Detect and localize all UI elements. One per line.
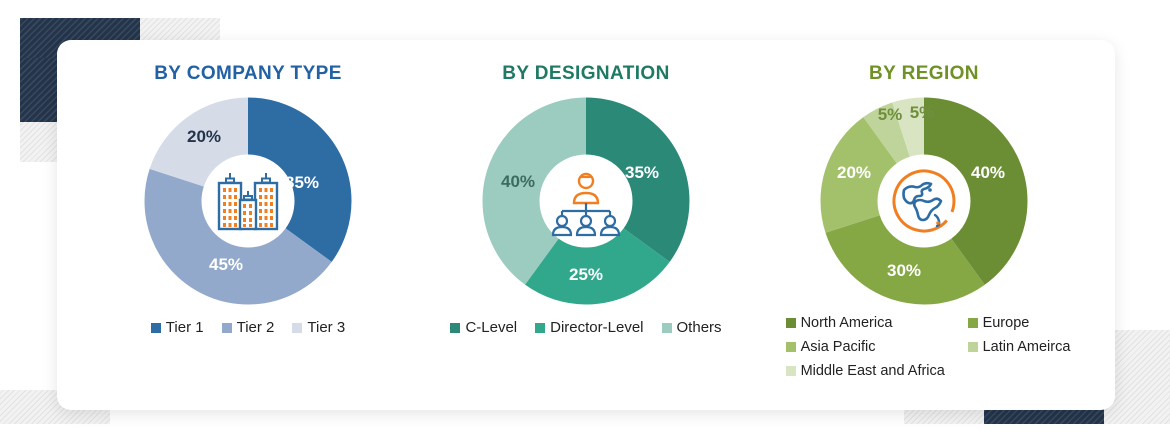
legend-swatch-asia-pacific (786, 342, 796, 352)
legend-item-others[interactable]: Others (662, 319, 722, 336)
panel-title-region: BY REGION (869, 63, 979, 85)
legend-label-tier-1: Tier 1 (166, 319, 204, 336)
legend-swatch-europe (968, 318, 978, 328)
legend-label-north-america: North America (801, 315, 893, 331)
legend-designation: C-Level Director-Level Others (450, 319, 721, 336)
legend-item-europe[interactable]: Europe (968, 315, 1071, 331)
legend-swatch-tier-3 (292, 323, 302, 333)
panel-by-region: BY REGION 40% (761, 58, 1087, 379)
panel-title-designation: BY DESIGNATION (502, 63, 669, 85)
legend-item-tier-2[interactable]: Tier 2 (222, 319, 275, 336)
legend-label-latin-america: Latin Ameirca (983, 339, 1071, 355)
legend-item-tier-3[interactable]: Tier 3 (292, 319, 345, 336)
legend-region: North America Europe Asia Pacific Latin … (778, 315, 1071, 379)
legend-item-c-level[interactable]: C-Level (450, 319, 517, 336)
panel-by-designation: BY DESIGNATION 35% 25% 40% (423, 58, 749, 336)
org-chart-icon (544, 159, 628, 243)
panel-title-company-type: BY COMPANY TYPE (154, 63, 342, 85)
donut-chart-designation: 35% 25% 40% (480, 95, 692, 307)
legend-item-latin-america[interactable]: Latin Ameirca (968, 339, 1071, 355)
legend-label-director-level: Director-Level (550, 319, 643, 336)
legend-swatch-tier-2 (222, 323, 232, 333)
office-buildings-icon (206, 159, 290, 243)
legend-label-europe: Europe (983, 315, 1030, 331)
legend-item-tier-1[interactable]: Tier 1 (151, 319, 204, 336)
legend-item-middle-east-africa[interactable]: Middle East and Africa (786, 363, 1071, 379)
legend-label-c-level: C-Level (465, 319, 517, 336)
legend-swatch-c-level (450, 323, 460, 333)
donut-chart-region: 40% 30% 20% 5% 5% (818, 95, 1030, 307)
legend-item-north-america[interactable]: North America (786, 315, 964, 331)
legend-label-asia-pacific: Asia Pacific (801, 339, 876, 355)
legend-label-tier-2: Tier 2 (237, 319, 275, 336)
panel-by-company-type: BY COMPANY TYPE 35% 45% 20% (85, 58, 411, 336)
legend-swatch-tier-1 (151, 323, 161, 333)
legend-swatch-others (662, 323, 672, 333)
donut-chart-company-type: 35% 45% 20% (142, 95, 354, 307)
legend-label-tier-3: Tier 3 (307, 319, 345, 336)
legend-label-others: Others (677, 319, 722, 336)
top-left-stripe-accent-2 (20, 122, 62, 162)
legend-swatch-latin-america (968, 342, 978, 352)
legend-company-type: Tier 1 Tier 2 Tier 3 (151, 319, 345, 336)
infographic-stage: BY COMPANY TYPE 35% 45% 20% (0, 0, 1170, 444)
legend-item-asia-pacific[interactable]: Asia Pacific (786, 339, 964, 355)
legend-item-director-level[interactable]: Director-Level (535, 319, 643, 336)
legend-swatch-director-level (535, 323, 545, 333)
legend-swatch-north-america (786, 318, 796, 328)
legend-label-middle-east-africa: Middle East and Africa (801, 363, 945, 379)
globe-icon (882, 159, 966, 243)
legend-swatch-middle-east-africa (786, 366, 796, 376)
content-card: BY COMPANY TYPE 35% 45% 20% (57, 40, 1115, 410)
